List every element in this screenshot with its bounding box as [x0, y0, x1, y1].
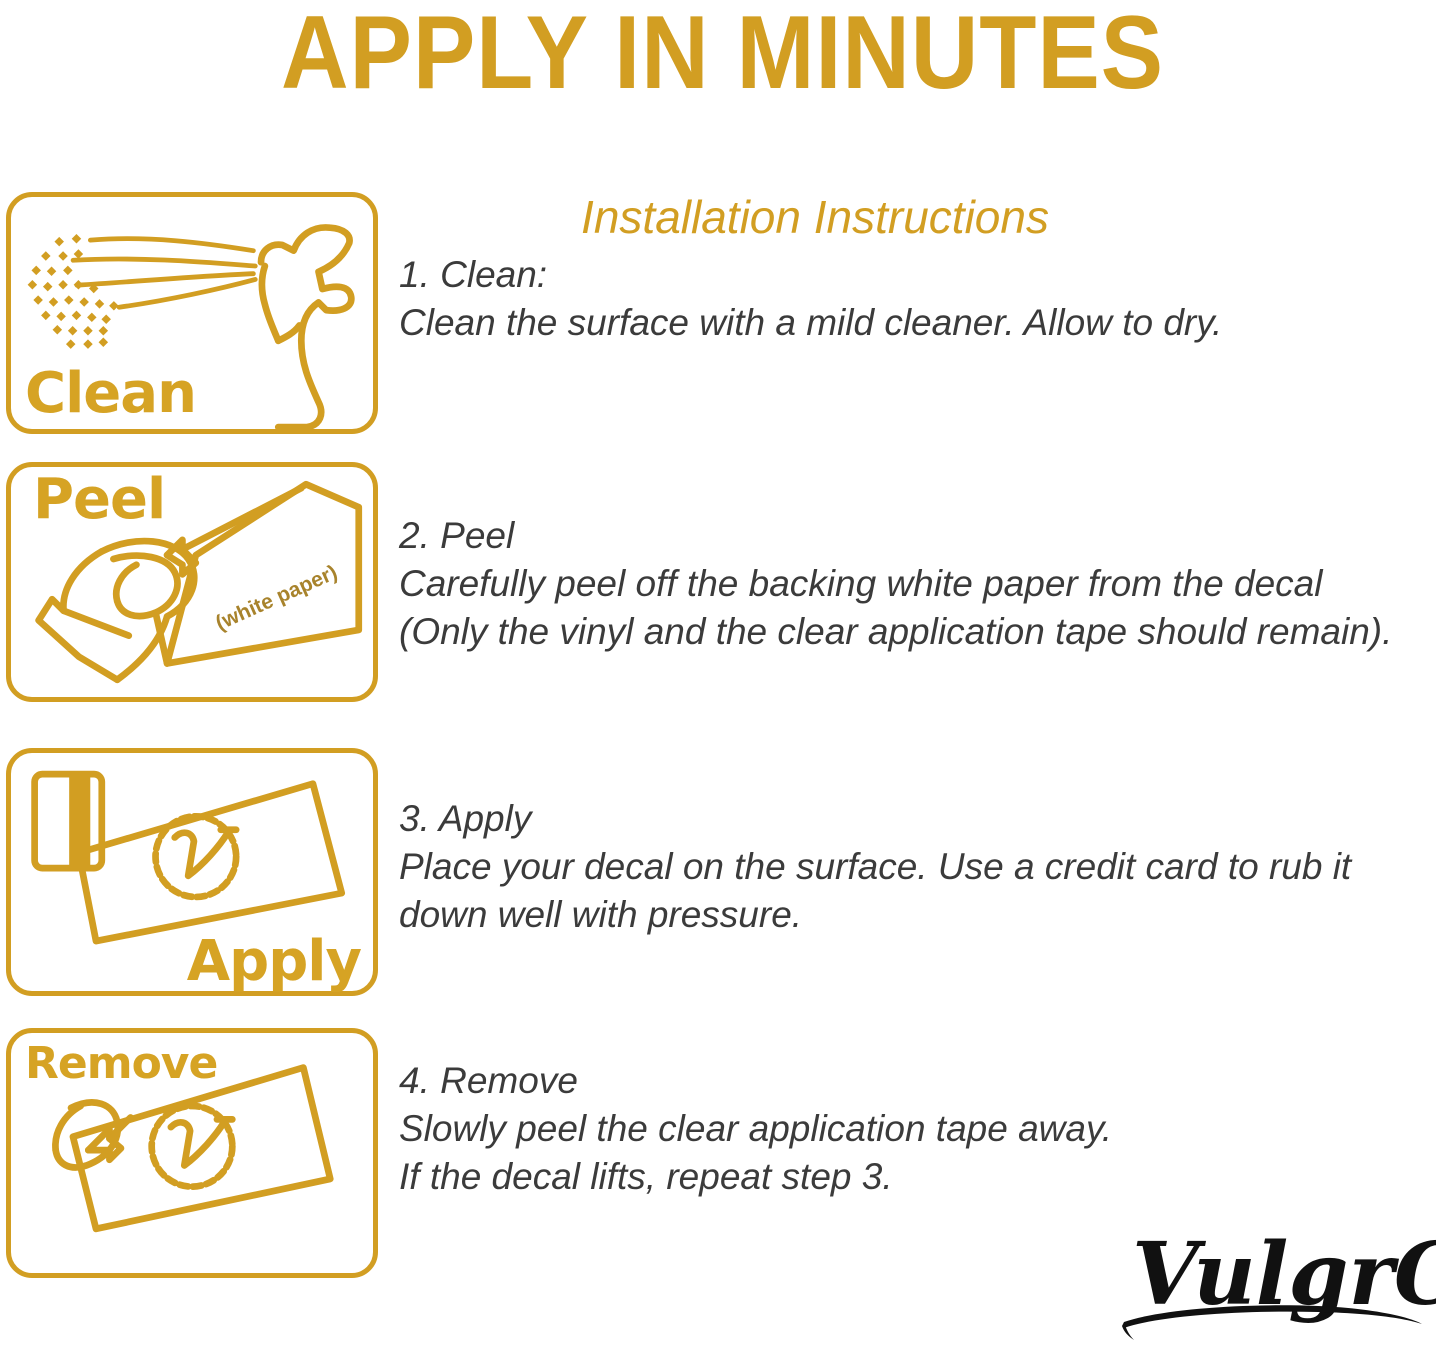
icon-box-apply: Apply: [6, 748, 378, 996]
step-1-title: 1. Clean:: [399, 251, 1445, 299]
instruction-step-2: 2. Peel Carefully peel off the backing w…: [399, 512, 1445, 656]
icon-box-peel: Peel (white paper): [6, 462, 378, 702]
step-2-title: 2. Peel: [399, 512, 1445, 560]
step-4-line-2: If the decal lifts, repeat step 3.: [399, 1153, 1445, 1201]
instruction-sheet: APPLY IN MINUTES: [0, 0, 1445, 1352]
icon-box-label-peel: Peel: [33, 473, 165, 527]
vulgrco-logo-icon: VulgrCo: [1118, 1224, 1436, 1344]
icon-box-label-apply: Apply: [187, 935, 361, 989]
icon-box-clean: Clean: [6, 192, 378, 434]
instruction-step-3: 3. Apply Place your decal on the surface…: [399, 795, 1445, 939]
instruction-step-1: 1. Clean: Clean the surface with a mild …: [399, 251, 1445, 347]
step-4-line-1: Slowly peel the clear application tape a…: [399, 1105, 1445, 1153]
step-3-line-1: Place your decal on the surface. Use a c…: [399, 843, 1445, 891]
brand-logo: VulgrCo: [1118, 1224, 1436, 1344]
step-3-line-2: down well with pressure.: [399, 891, 1445, 939]
icon-box-remove: Remove: [6, 1028, 378, 1278]
step-2-line-2: (Only the vinyl and the clear applicatio…: [399, 608, 1445, 656]
step-4-title: 4. Remove: [399, 1057, 1445, 1105]
page-title: APPLY IN MINUTES: [72, 0, 1373, 108]
icon-box-label-clean: Clean: [25, 367, 196, 421]
step-1-line-1: Clean the surface with a mild cleaner. A…: [399, 299, 1445, 347]
instructions-heading: Installation Instructions: [400, 190, 1230, 244]
step-2-line-1: Carefully peel off the backing white pap…: [399, 560, 1445, 608]
icon-box-label-remove: Remove: [25, 1037, 217, 1091]
instruction-step-4: 4. Remove Slowly peel the clear applicat…: [399, 1057, 1445, 1201]
step-3-title: 3. Apply: [399, 795, 1445, 843]
